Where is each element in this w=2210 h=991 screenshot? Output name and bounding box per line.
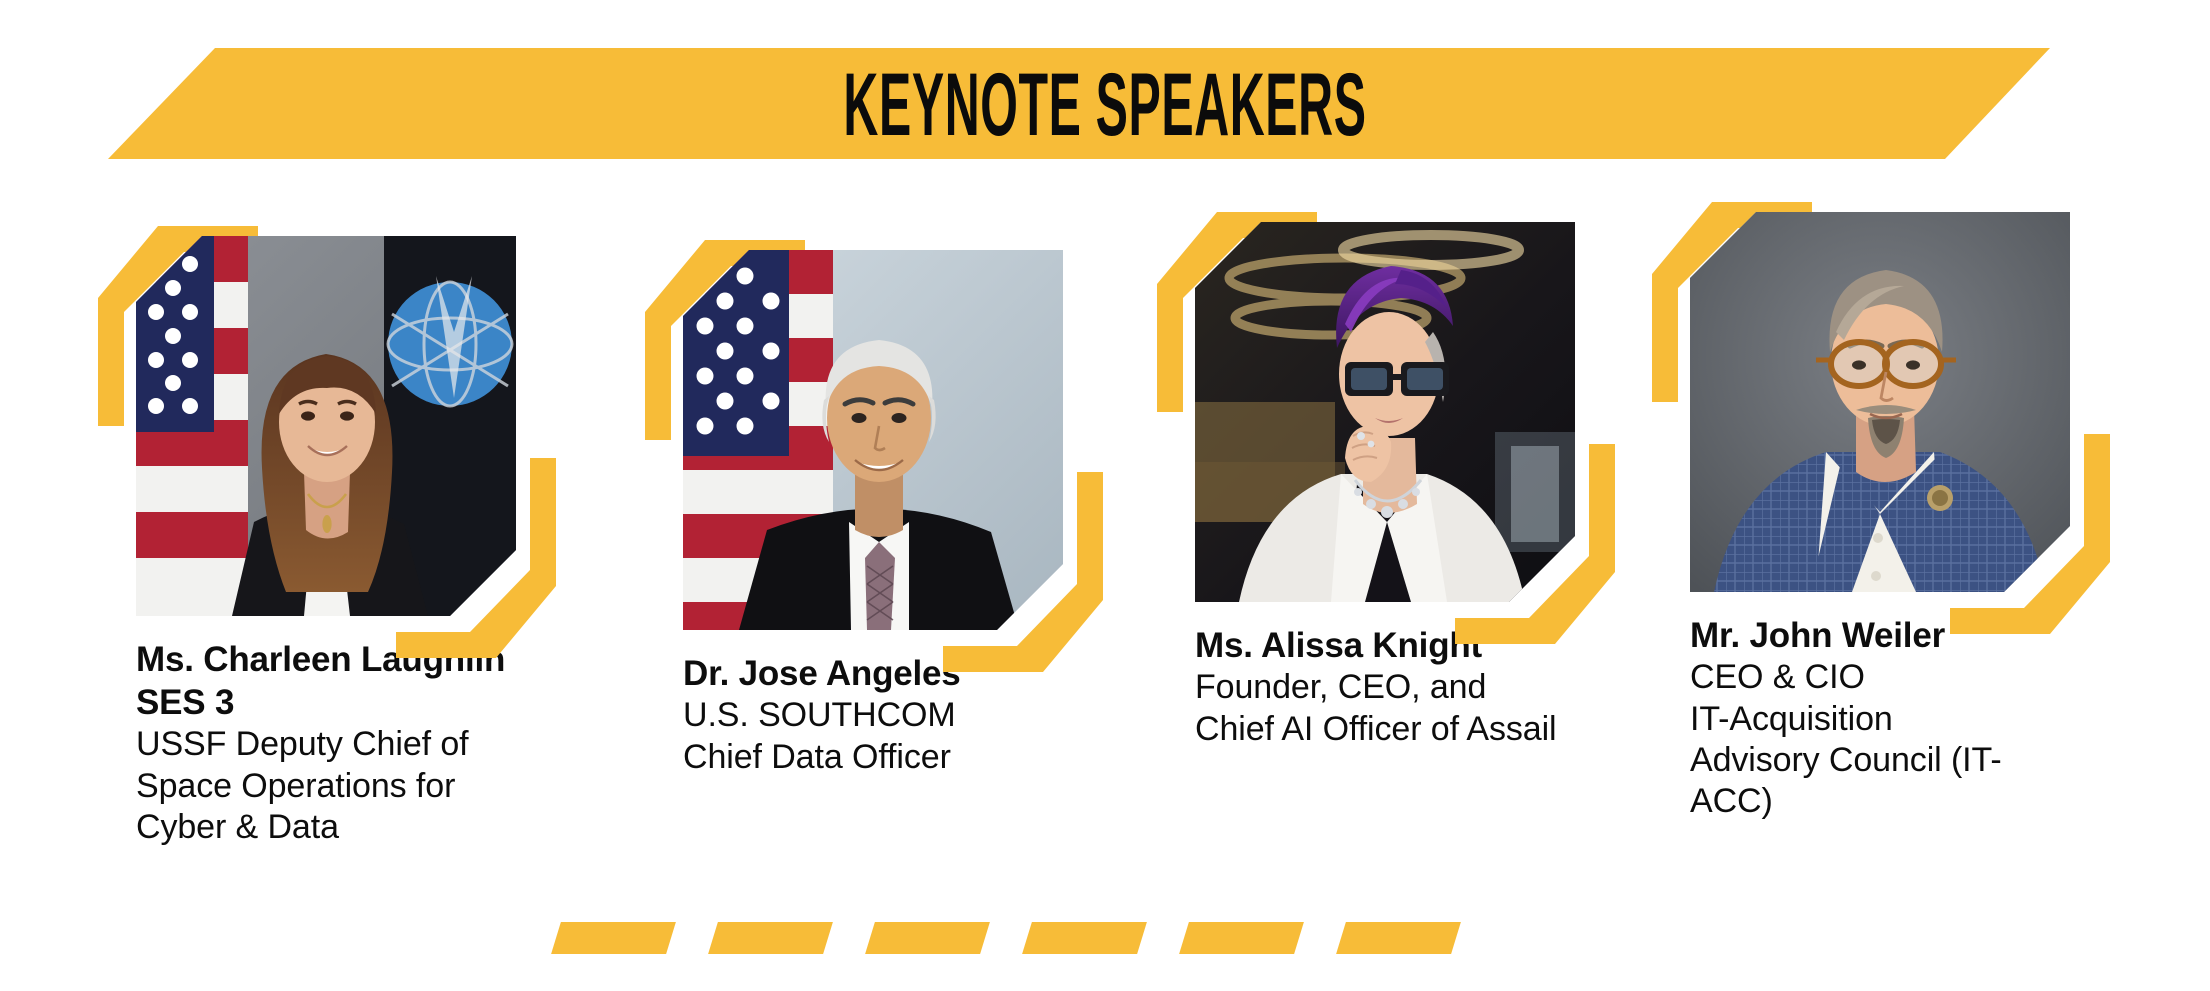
speaker-detail-3-0: Founder, CEO, and [1195,667,1615,708]
speaker-card-4: Mr. John Weiler CEO & CIO IT-Acquisition… [1690,212,2110,823]
photo-frame-3 [1195,222,1575,602]
speaker-detail-1-3: Cyber & Data [136,807,556,848]
speaker-detail-3-1: Chief AI Officer of Assail [1195,709,1615,750]
speaker-detail-4-0: CEO & CIO [1690,657,2110,698]
photo-frame-1 [136,236,516,616]
speaker-detail-4-3: ACC) [1690,781,2110,822]
photo-frame-4 [1690,212,2070,592]
speaker-detail-1-2: Space Operations for [136,766,556,807]
speaker-detail-2-1: Chief Data Officer [683,737,1103,778]
dash-segment [1022,922,1147,954]
speaker-card-2: Dr. Jose Angeles U.S. SOUTHCOM Chief Dat… [683,250,1103,778]
speaker-caption-4: Mr. John Weiler CEO & CIO IT-Acquisition… [1690,614,2110,823]
speaker-card-1: Ms. Charleen Laughlin SES 3 USSF Deputy … [136,236,556,849]
speaker-card-3: Ms. Alissa Knight Founder, CEO, and Chie… [1195,222,1615,750]
speaker-caption-1: Ms. Charleen Laughlin SES 3 USSF Deputy … [136,638,556,849]
speaker-photo-4 [1690,212,2070,592]
dash-segment [708,922,833,954]
photo-frame-2 [683,250,1063,630]
speaker-detail-1-1: USSF Deputy Chief of [136,724,556,765]
speaker-photo-1 [136,236,516,616]
speakers-row: Ms. Charleen Laughlin SES 3 USSF Deputy … [0,0,2210,991]
dash-segment [551,922,676,954]
speaker-photo-2 [683,250,1063,630]
speaker-photo-3 [1195,222,1575,602]
dash-segment [865,922,990,954]
bottom-dash-divider [556,922,1456,954]
speaker-detail-4-2: Advisory Council (IT- [1690,740,2110,781]
dash-segment [1179,922,1304,954]
speaker-detail-1-0: SES 3 [136,681,556,724]
dash-segment [1336,922,1461,954]
speaker-detail-2-0: U.S. SOUTHCOM [683,695,1103,736]
keynote-speakers-slide: KEYNOTE SPEAKERS [0,0,2210,991]
speaker-detail-4-1: IT-Acquisition [1690,699,2110,740]
